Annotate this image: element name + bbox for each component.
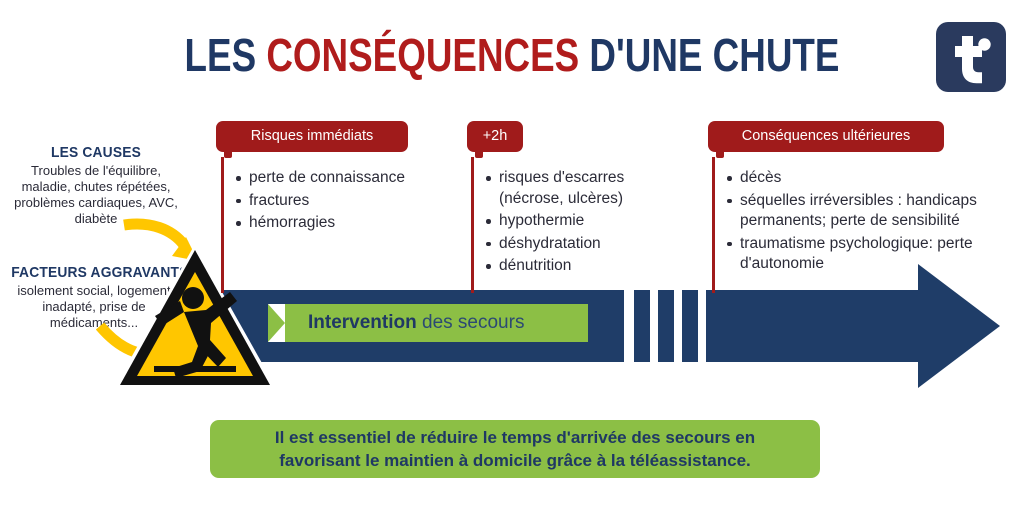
timeline-label-immediate[interactable]: Risques immédiats: [216, 121, 408, 152]
infographic-canvas: LES CONSÉQUENCES D'UNE CHUTE LES CAUSES …: [0, 0, 1024, 512]
timeline-connector-immediate: [221, 157, 224, 293]
list-item: hémorragies: [234, 213, 444, 234]
logo-t-icon: [936, 22, 1006, 92]
arrow-gap-3: [674, 288, 682, 364]
title-segment-1: LES: [185, 29, 267, 81]
key-message-line-2: favorisant le maintien à domicile grâce …: [279, 451, 751, 470]
arrow-gap-2: [650, 288, 658, 364]
label-nub: [475, 151, 483, 158]
timeline-label-later[interactable]: Conséquences ultérieures: [708, 121, 944, 152]
key-message-text: Il est essentiel de réduire le temps d'a…: [275, 426, 755, 472]
list-item: dénutrition: [484, 256, 669, 277]
arrow-gap-4: [698, 288, 706, 364]
timeline-list-2h: risques d'escarres (nécrose, ulcères) hy…: [484, 168, 669, 279]
list-item: séquelles irréversibles : handicaps perm…: [725, 191, 1000, 232]
play-triangle-icon: [268, 304, 285, 342]
list-item: traumatisme psychologique: perte d'auton…: [725, 234, 1000, 275]
title-segment-3: D'UNE CHUTE: [579, 29, 839, 81]
intervention-bold: Intervention: [308, 312, 417, 333]
list-item: déshydratation: [484, 234, 669, 255]
timeline-arrow-head: [908, 262, 1003, 390]
slip-fall-warning-icon: [110, 240, 280, 392]
brand-logo: [936, 22, 1006, 92]
list-item: perte de connaissance: [234, 168, 444, 189]
key-message-line-1: Il est essentiel de réduire le temps d'a…: [275, 428, 755, 447]
label-nub: [224, 151, 232, 158]
list-item: décès: [725, 168, 1000, 189]
timeline-list-later: décès séquelles irréversibles : handicap…: [725, 168, 1000, 277]
timeline-label-2h[interactable]: +2h: [467, 121, 523, 152]
timeline-label-later-text: Conséquences ultérieures: [742, 128, 910, 144]
intervention-rest: des secours: [417, 312, 525, 333]
key-message-callout: Il est essentiel de réduire le temps d'a…: [210, 420, 820, 478]
arrow-gap-1: [624, 288, 634, 364]
page-title: LES CONSÉQUENCES D'UNE CHUTE: [102, 28, 921, 82]
timeline-label-immediate-text: Risques immédiats: [251, 128, 374, 144]
list-item: fractures: [234, 191, 444, 212]
timeline-list-immediate: perte de connaissance fractures hémorrag…: [234, 168, 444, 236]
timeline-connector-2h: [471, 157, 474, 293]
timeline-connector-later: [712, 157, 715, 293]
label-nub: [716, 151, 724, 158]
causes-title: LES CAUSES: [15, 144, 177, 161]
list-item: risques d'escarres (nécrose, ulcères): [484, 168, 669, 209]
intervention-text: Intervention des secours: [308, 304, 524, 342]
list-item: hypothermie: [484, 211, 669, 232]
intervention-bar: Intervention des secours: [268, 304, 588, 342]
title-segment-2: CONSÉQUENCES: [266, 29, 579, 81]
timeline-label-2h-text: +2h: [483, 128, 508, 144]
